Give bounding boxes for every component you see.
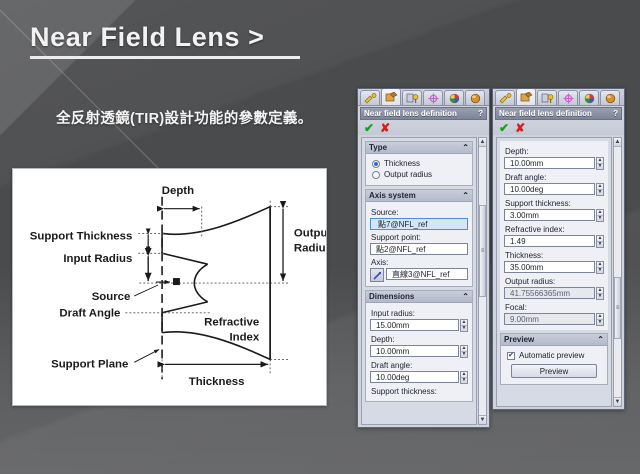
field-draft-angle-value[interactable]: 10.00deg: [504, 183, 595, 195]
label-refractive-index: Refractive index:: [505, 225, 604, 234]
ok-check-icon[interactable]: ✔: [499, 122, 509, 134]
radio-thickness-icon[interactable]: [372, 160, 380, 168]
section-type: Type ⌃ Thickness Output radius: [365, 141, 473, 186]
field-draft-angle-value[interactable]: 10.00deg: [370, 371, 459, 383]
section-preview-header[interactable]: Preview ⌃: [501, 334, 607, 346]
section-dimensions-title: Dimensions: [369, 292, 414, 301]
section-axis-system-header[interactable]: Axis system ⌃: [366, 190, 472, 202]
field-input-radius-row[interactable]: 15.00mm ▲▼: [370, 319, 468, 332]
section-dimensions-continued-body: Depth: 10.00mm ▲▼ Draft angle: 10.00deg …: [500, 141, 608, 330]
field-focal-value: 9.00mm: [504, 313, 595, 325]
tab-render-icon[interactable]: [444, 90, 464, 105]
section-dimensions-continued: Depth: 10.00mm ▲▼ Draft angle: 10.00deg …: [500, 141, 608, 330]
label-depth: Depth:: [371, 335, 468, 344]
section-dimensions: Dimensions ⌃ Input radius: 15.00mm ▲▼ De…: [365, 290, 473, 402]
label-draft-angle: Draft angle:: [371, 361, 468, 370]
cancel-x-icon[interactable]: ✘: [380, 122, 390, 134]
lens-diagram-figure: Depth Support Thickness Input Radius Sou…: [12, 168, 327, 406]
field-depth-row[interactable]: 10.00mm ▲▼: [504, 157, 604, 170]
spinner-depth[interactable]: ▲▼: [460, 345, 468, 358]
label-depth: Depth:: [505, 147, 604, 156]
checkbox-automatic-preview-label: Automatic preview: [519, 351, 584, 360]
ok-check-icon[interactable]: ✔: [364, 122, 374, 134]
panel-right-title: Near field lens definition: [499, 109, 592, 118]
cancel-x-icon[interactable]: ✘: [515, 122, 525, 134]
tab-feature-manager-icon[interactable]: [381, 88, 401, 105]
checkbox-automatic-preview-row[interactable]: ✔ Automatic preview: [507, 351, 603, 360]
figure-label-draft-angle: Draft Angle: [59, 308, 120, 320]
checkbox-automatic-preview-icon[interactable]: ✔: [507, 352, 515, 360]
scroll-track[interactable]: [479, 297, 486, 415]
chevron-collapse-icon[interactable]: ⌃: [462, 292, 469, 301]
axis-picker-icon[interactable]: [370, 268, 384, 282]
spinner-focal: ▲▼: [596, 313, 604, 326]
field-output-radius-value: 41.75566365mm: [504, 287, 595, 299]
preview-button[interactable]: Preview: [511, 364, 597, 378]
page-title: Near Field Lens >: [30, 22, 300, 53]
radio-output-radius-label: Output radius: [384, 170, 432, 179]
figure-label-thickness: Thickness: [189, 376, 245, 388]
label-input-radius: Input radius:: [371, 309, 468, 318]
field-depth-row[interactable]: 10.00mm ▲▼: [370, 345, 468, 358]
spinner-input-radius[interactable]: ▲▼: [460, 319, 468, 332]
panel-right-help-button[interactable]: ?: [613, 109, 618, 118]
chevron-collapse-icon[interactable]: ⌃: [462, 143, 469, 152]
label-output-radius: Output radius:: [505, 277, 604, 286]
figure-label-depth: Depth: [162, 185, 194, 197]
field-draft-angle-row[interactable]: 10.00deg ▲▼: [370, 371, 468, 384]
spinner-output-radius: ▲▼: [596, 287, 604, 300]
figure-label-support-plane: Support Plane: [51, 358, 128, 370]
section-preview-title: Preview: [504, 335, 534, 344]
scroll-up-button[interactable]: ▲: [479, 138, 486, 147]
tab-feature-manager-icon[interactable]: [516, 88, 536, 105]
field-thickness-row[interactable]: 35.00mm ▲▼: [504, 261, 604, 274]
figure-label-refractive-index-line2: Index: [229, 332, 259, 344]
tab-property-manager-icon[interactable]: [495, 90, 515, 105]
section-axis-system-title: Axis system: [369, 191, 416, 200]
label-draft-angle: Draft angle:: [505, 173, 604, 182]
figure-label-output-radius-line1: Output: [294, 227, 326, 239]
figure-label-refractive-index-line1: Refractive: [204, 317, 259, 329]
label-axis: Axis:: [371, 258, 468, 267]
section-type-body: Thickness Output radius: [366, 154, 472, 185]
field-axis-value[interactable]: 直線3@NFL_ref: [386, 268, 468, 280]
tab-display-manager-icon[interactable]: [600, 90, 620, 105]
field-source-value[interactable]: 點7@NFL_ref: [370, 218, 468, 230]
section-preview-body: ✔ Automatic preview Preview: [501, 346, 607, 384]
title-block: Near Field Lens >: [30, 22, 300, 59]
scroll-thumb[interactable]: ≡: [479, 205, 486, 297]
tab-dimxpert-icon[interactable]: [423, 90, 443, 105]
spinner-refractive-index[interactable]: ▲▼: [596, 235, 604, 248]
spinner-draft-angle[interactable]: ▲▼: [460, 371, 468, 384]
scroll-thumb[interactable]: ≡: [614, 277, 621, 339]
scroll-track[interactable]: [614, 339, 621, 397]
field-support-point-value[interactable]: 點2@NFL_ref: [370, 243, 468, 255]
section-dimensions-body: Input radius: 15.00mm ▲▼ Depth: 10.00mm …: [366, 303, 472, 401]
field-input-radius-value[interactable]: 15.00mm: [370, 319, 459, 331]
label-support-point: Support point:: [371, 233, 468, 242]
tab-configuration-manager-icon[interactable]: [537, 90, 557, 105]
panel-left-help-button[interactable]: ?: [478, 109, 483, 118]
field-focal-row: 9.00mm ▲▼: [504, 313, 604, 326]
field-source-row[interactable]: 點7@NFL_ref: [370, 218, 468, 230]
panel-right-scrollbar[interactable]: ▲ ≡ ▼: [613, 137, 622, 407]
field-refractive-index-value[interactable]: 1.49: [504, 235, 595, 247]
scroll-down-button[interactable]: ▼: [479, 415, 486, 424]
chevron-collapse-icon[interactable]: ⌃: [597, 335, 604, 344]
property-manager-panel-right[interactable]: Near field lens definition ? ✔ ✘ Depth: …: [492, 88, 625, 410]
radio-option-output-radius[interactable]: Output radius: [372, 170, 468, 179]
title-underline: [30, 56, 300, 59]
panel-right-confirm-bar[interactable]: ✔ ✘: [493, 120, 624, 135]
tab-property-manager-icon[interactable]: [360, 90, 380, 105]
scroll-down-button[interactable]: ▼: [614, 397, 621, 406]
field-axis-row[interactable]: 直線3@NFL_ref: [370, 268, 468, 282]
figure-label-source: Source: [92, 291, 131, 303]
section-preview: Preview ⌃ ✔ Automatic preview Preview: [500, 333, 608, 385]
field-thickness-value[interactable]: 35.00mm: [504, 261, 595, 273]
tab-configuration-manager-icon[interactable]: [402, 90, 422, 105]
property-manager-panel-left[interactable]: Near field lens definition ? ✔ ✘ Type ⌃ …: [357, 88, 490, 428]
tab-dimxpert-icon[interactable]: [558, 90, 578, 105]
scroll-up-button[interactable]: ▲: [614, 138, 621, 147]
spinner-thickness[interactable]: ▲▼: [596, 261, 604, 274]
panel-right-body: Depth: 10.00mm ▲▼ Draft angle: 10.00deg …: [496, 137, 612, 407]
panel-left-title: Near field lens definition: [364, 109, 457, 118]
tab-render-icon[interactable]: [579, 90, 599, 105]
figure-label-output-radius-line2: Radius: [294, 242, 326, 254]
label-thickness: Thickness:: [505, 251, 604, 260]
radio-option-thickness[interactable]: Thickness: [372, 159, 468, 168]
tab-display-manager-icon[interactable]: [465, 90, 485, 105]
section-axis-system-body: Source: 點7@NFL_ref Support point: 點2@NFL…: [366, 202, 472, 286]
panel-left-tabstrip[interactable]: [358, 89, 489, 106]
radio-thickness-label: Thickness: [384, 159, 420, 168]
panel-left-body: Type ⌃ Thickness Output radius Axis syst…: [361, 137, 477, 425]
label-support-thickness: Support thickness:: [505, 199, 604, 208]
section-axis-system: Axis system ⌃ Source: 點7@NFL_ref Support…: [365, 189, 473, 287]
field-support-thickness-row[interactable]: 3.00mm ▲▼: [504, 209, 604, 222]
panel-left-scrollbar[interactable]: ▲ ≡ ▼: [478, 137, 487, 425]
field-support-point-row[interactable]: 點2@NFL_ref: [370, 243, 468, 255]
figure-label-support-thickness: Support Thickness: [30, 230, 133, 242]
section-type-title: Type: [369, 143, 387, 152]
spinner-support-thickness[interactable]: ▲▼: [596, 209, 604, 222]
lens-diagram-svg: Depth Support Thickness Input Radius Sou…: [13, 169, 326, 405]
panel-left-confirm-bar[interactable]: ✔ ✘: [358, 120, 489, 135]
panel-right-titlebar: Near field lens definition ?: [495, 107, 622, 120]
label-source: Source:: [371, 208, 468, 217]
panel-right-tabstrip[interactable]: [493, 89, 624, 106]
section-dimensions-header[interactable]: Dimensions ⌃: [366, 291, 472, 303]
field-depth-value[interactable]: 10.00mm: [370, 345, 459, 357]
field-output-radius-row: 41.75566365mm ▲▼: [504, 287, 604, 300]
label-support-thickness-clipped: Support thickness:: [371, 387, 468, 396]
label-focal: Focal:: [505, 303, 604, 312]
spinner-draft-angle[interactable]: ▲▼: [596, 183, 604, 196]
chevron-collapse-icon[interactable]: ⌃: [462, 191, 469, 200]
field-depth-value[interactable]: 10.00mm: [504, 157, 595, 169]
field-draft-angle-row[interactable]: 10.00deg ▲▼: [504, 183, 604, 196]
slide-subtitle: 全反射透鏡(TIR)設計功能的參數定義。: [56, 107, 313, 128]
field-refractive-index-row[interactable]: 1.49 ▲▼: [504, 235, 604, 248]
section-type-header[interactable]: Type ⌃: [366, 142, 472, 154]
panel-left-titlebar: Near field lens definition ?: [360, 107, 487, 120]
radio-output-radius-icon[interactable]: [372, 171, 380, 179]
spinner-depth[interactable]: ▲▼: [596, 157, 604, 170]
figure-label-input-radius: Input Radius: [63, 253, 132, 265]
field-support-thickness-value[interactable]: 3.00mm: [504, 209, 595, 221]
